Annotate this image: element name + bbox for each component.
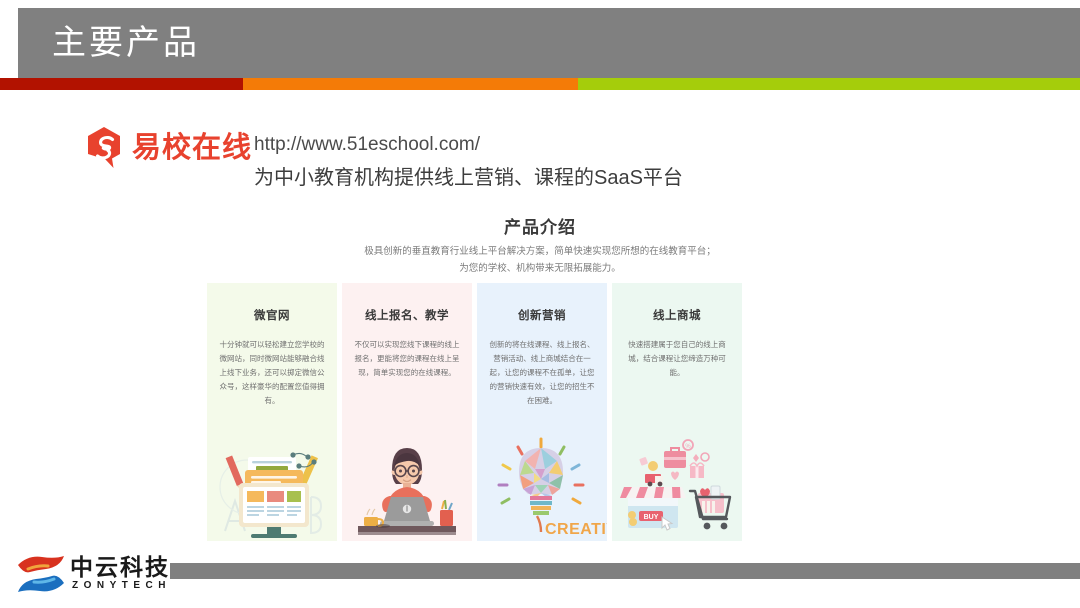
creative-lightbulb-illustration: CREATIVE <box>477 435 607 539</box>
slide-root: 主要产品 易校在线 http://www.51eschool.com/ 为中小教… <box>0 0 1080 608</box>
intro-subtitle-line-2: 为您的学校、机构带来无限拓展能力。 <box>0 260 1080 277</box>
accent-segment-red <box>0 78 243 90</box>
brand-name: 易校在线 <box>132 130 252 166</box>
feature-card[interactable]: 线上商城 快速搭建属于您自己的线上商城，结合课程让您缔造万种可能。 % <box>612 283 742 541</box>
intro-subtitle-line-1: 极具创新的垂直教育行业线上平台解决方案，简单快速实现您所想的在线教育平台； <box>0 243 1080 260</box>
footer-company-name-cn: 中云科技 <box>70 554 170 580</box>
svg-text:%: % <box>685 444 691 450</box>
website-design-monitor-illustration <box>207 435 337 539</box>
brand-tagline: 为中小教育机构提供线上营销、课程的SaaS平台 <box>254 164 683 192</box>
feature-card-description: 十分钟就可以轻松建立您学校的微网站，同时微网站能够融合线上线下业务，还可以掷定微… <box>216 338 328 408</box>
feature-card-description: 创新的将在线课程、线上报名、营销活动、线上商城结合在一起，让您的课程不在孤单，让… <box>486 338 598 408</box>
feature-card[interactable]: 微官网 十分钟就可以轻松建立您学校的微网站，同时微网站能够融合线上线下业务，还可… <box>207 283 337 541</box>
yixiao-hexagon-s-icon <box>82 125 128 171</box>
feature-card-list: 微官网 十分钟就可以轻松建立您学校的微网站，同时微网站能够融合线上线下业务，还可… <box>207 283 747 541</box>
accent-bar <box>0 78 1080 90</box>
zonytech-swoosh-icon <box>14 552 68 596</box>
feature-card-title: 创新营销 <box>477 307 607 323</box>
creative-word: CREATIVE <box>545 521 607 538</box>
feature-card[interactable]: 线上报名、教学 不仅可以实现您线下课程的线上报名，更能将您的课程在线上呈现，简单… <box>342 283 472 541</box>
feature-card-title: 线上商城 <box>612 307 742 323</box>
feature-card-description: 不仅可以实现您线下课程的线上报名，更能将您的课程在线上呈现，简单实现您的在线课程… <box>351 338 463 380</box>
page-title: 主要产品 <box>52 23 200 63</box>
footer-company-name-en: ZONYTECH <box>72 580 171 592</box>
online-shop-cart-illustration: % <box>612 435 742 539</box>
feature-card-title: 微官网 <box>207 307 337 323</box>
footer-bar <box>170 563 1080 579</box>
brand-url[interactable]: http://www.51eschool.com/ <box>254 132 480 158</box>
shop-buy-label: BUY <box>644 514 659 521</box>
footer: 中云科技 ZONYTECH <box>0 548 1080 608</box>
feature-card-title: 线上报名、教学 <box>342 307 472 323</box>
brand-row: 易校在线 http://www.51eschool.com/ 为中小教育机构提供… <box>82 124 782 194</box>
accent-segment-orange <box>243 78 578 90</box>
person-laptop-illustration <box>342 435 472 539</box>
feature-card[interactable]: 创新营销 创新的将在线课程、线上报名、营销活动、线上商城结合在一起，让您的课程不… <box>477 283 607 541</box>
accent-segment-green <box>578 78 1080 90</box>
intro-title: 产品介绍 <box>0 213 1080 238</box>
intro-subtitle: 极具创新的垂直教育行业线上平台解决方案，简单快速实现您所想的在线教育平台； 为您… <box>0 243 1080 277</box>
feature-card-description: 快速搭建属于您自己的线上商城，结合课程让您缔造万种可能。 <box>621 338 733 380</box>
